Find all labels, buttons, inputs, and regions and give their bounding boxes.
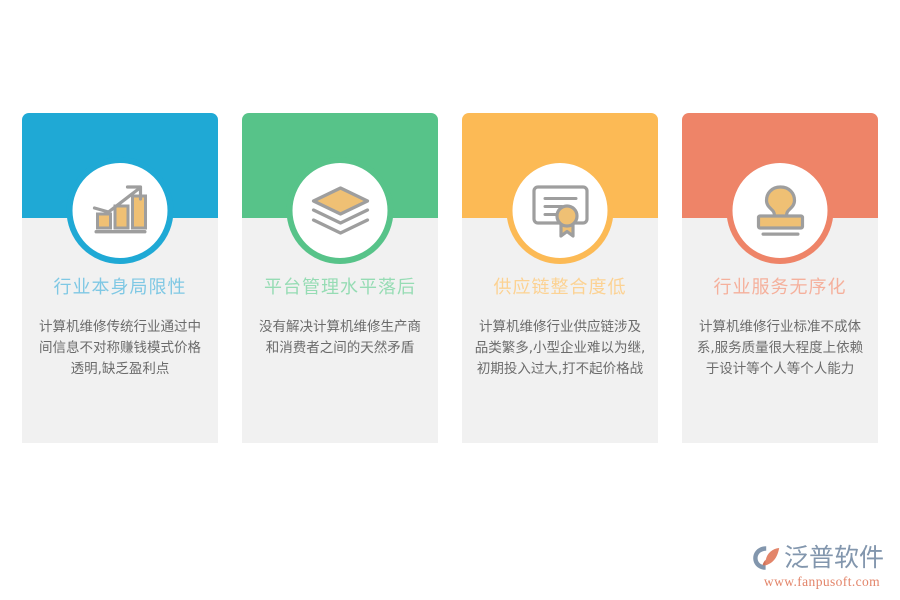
card-platform-management[interactable]: 平台管理水平落后 没有解决计算机维修生产商和消费者之间的天然矛盾 <box>242 113 438 443</box>
card-title: 供应链整合度低 <box>462 277 658 299</box>
bar-chart-growth-icon <box>90 182 150 240</box>
card-description: 计算机维修行业供应链涉及品类繁多,小型企业难以为继,初期投入过大,打不起价格战 <box>474 317 646 380</box>
card-description: 没有解决计算机维修生产商和消费者之间的天然矛盾 <box>254 317 426 359</box>
brand-name: 泛普软件 <box>784 544 884 572</box>
card-supply-chain[interactable]: 供应链整合度低 计算机维修行业供应链涉及品类繁多,小型企业难以为继,初期投入过大… <box>462 113 658 443</box>
card-description: 计算机维修传统行业通过中间信息不对称赚钱模式价格透明,缺乏盈利点 <box>34 317 206 380</box>
fanpu-logo-mark-icon <box>752 545 781 571</box>
brand-logo-top: 泛普软件 <box>752 543 892 573</box>
certificate-award-icon <box>530 183 590 239</box>
card-title: 行业本身局限性 <box>22 277 218 299</box>
rubber-stamp-icon <box>751 183 809 239</box>
feature-cards-row: 行业本身局限性 计算机维修传统行业通过中间信息不对称赚钱模式价格透明,缺乏盈利点… <box>22 113 878 443</box>
icon-circle <box>507 157 614 264</box>
card-title: 平台管理水平落后 <box>242 277 438 299</box>
card-description: 计算机维修行业标准不成体系,服务质量很大程度上依赖于设计等个人等个人能力 <box>694 317 866 380</box>
card-industry-limitation[interactable]: 行业本身局限性 计算机维修传统行业通过中间信息不对称赚钱模式价格透明,缺乏盈利点 <box>22 113 218 443</box>
brand-url: www.fanpusoft.com <box>752 574 892 590</box>
brand-logo[interactable]: 泛普软件 www.fanpusoft.com <box>752 543 892 591</box>
card-service-disorder[interactable]: 行业服务无序化 计算机维修行业标准不成体系,服务质量很大程度上依赖于设计等个人等… <box>682 113 878 443</box>
icon-circle <box>67 157 174 264</box>
icon-circle <box>727 157 834 264</box>
card-title: 行业服务无序化 <box>682 277 878 299</box>
icon-circle <box>287 157 394 264</box>
layers-stack-icon <box>309 184 371 238</box>
